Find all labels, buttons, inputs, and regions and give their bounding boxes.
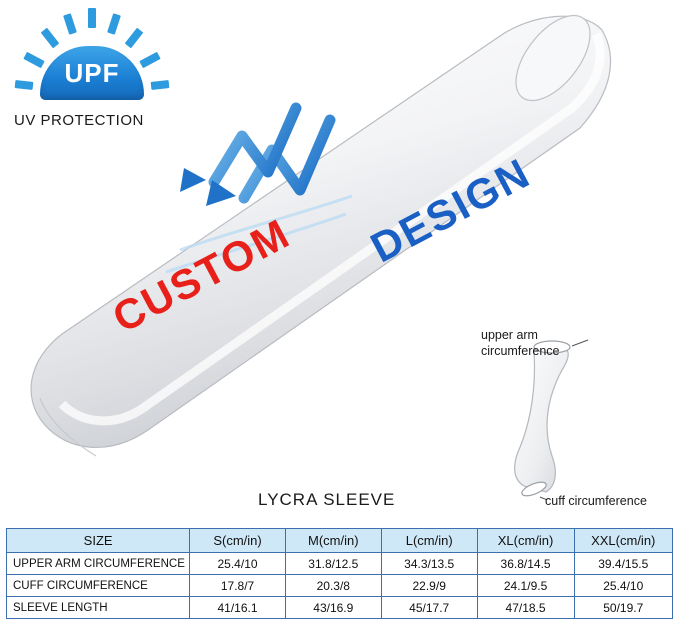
cell-upper-arm-xl: 36.8/14.5 — [477, 553, 574, 575]
header-cell-s: S(cm/in) — [190, 529, 286, 553]
table-header-row: SIZE S(cm/in) M(cm/in) L(cm/in) XL(cm/in… — [7, 529, 673, 553]
table-row: SLEEVE LENGTH 41/16.1 43/16.9 45/17.7 47… — [7, 597, 673, 619]
cell-length-s: 41/16.1 — [190, 597, 286, 619]
cell-cuff-l: 22.9/9 — [381, 575, 477, 597]
cell-cuff-m: 20.3/8 — [285, 575, 381, 597]
row-label-upper-arm: UPPER ARM CIRCUMFERENCE — [7, 553, 190, 575]
sleeve-body-shape — [31, 3, 611, 456]
sleeve-graphic — [0, 0, 679, 500]
header-cell-xxl: XXL(cm/in) — [574, 529, 673, 553]
cuff-diagram-shape — [515, 340, 588, 500]
cell-cuff-s: 17.8/7 — [190, 575, 286, 597]
cell-cuff-xl: 24.1/9.5 — [477, 575, 574, 597]
size-chart-table: SIZE S(cm/in) M(cm/in) L(cm/in) XL(cm/in… — [6, 528, 673, 619]
upper-arm-annotation-line1: upper arm — [481, 328, 560, 344]
header-cell-xl: XL(cm/in) — [477, 529, 574, 553]
product-infographic: UPF UV PROTECTION — [0, 0, 679, 635]
table-row: UPPER ARM CIRCUMFERENCE 25.4/10 31.8/12.… — [7, 553, 673, 575]
cell-cuff-xxl: 25.4/10 — [574, 575, 673, 597]
cell-length-l: 45/17.7 — [381, 597, 477, 619]
header-cell-l: L(cm/in) — [381, 529, 477, 553]
header-cell-size: SIZE — [7, 529, 190, 553]
cuff-annotation: cuff circumference — [545, 494, 647, 510]
row-label-length: SLEEVE LENGTH — [7, 597, 190, 619]
cell-upper-arm-l: 34.3/13.5 — [381, 553, 477, 575]
cell-length-m: 43/16.9 — [285, 597, 381, 619]
cell-length-xl: 47/18.5 — [477, 597, 574, 619]
upper-arm-annotation-line2: circumference — [481, 344, 560, 360]
sleeve-illustration: CUSTOM DESIGN upper arm circumference cu… — [0, 0, 679, 500]
airflow-arrowhead-icon — [180, 168, 236, 206]
cell-length-xxl: 50/19.7 — [574, 597, 673, 619]
row-label-cuff: CUFF CIRCUMFERENCE — [7, 575, 190, 597]
cell-upper-arm-xxl: 39.4/15.5 — [574, 553, 673, 575]
upper-arm-annotation: upper arm circumference — [481, 328, 560, 359]
product-name: LYCRA SLEEVE — [258, 490, 395, 510]
table-row: CUFF CIRCUMFERENCE 17.8/7 20.3/8 22.9/9 … — [7, 575, 673, 597]
cell-upper-arm-m: 31.8/12.5 — [285, 553, 381, 575]
cell-upper-arm-s: 25.4/10 — [190, 553, 286, 575]
header-cell-m: M(cm/in) — [285, 529, 381, 553]
